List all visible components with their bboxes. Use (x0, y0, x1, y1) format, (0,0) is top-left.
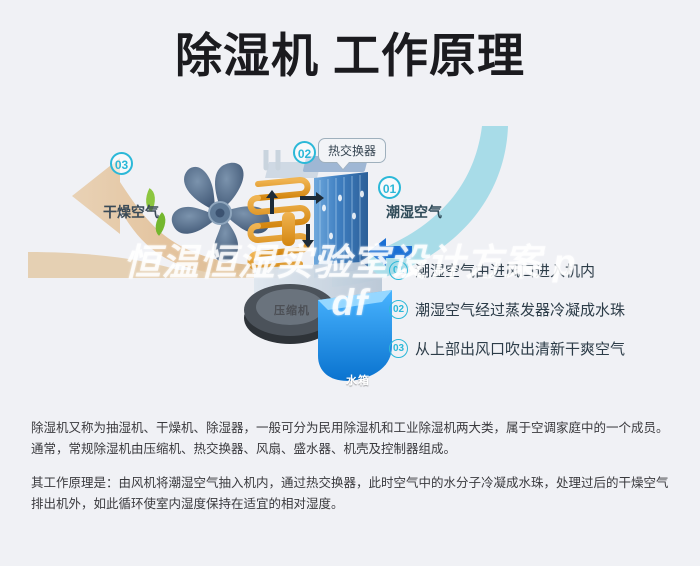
step-text: 潮湿空气由进风口进入机内 (415, 260, 595, 281)
dry-air-label: 干燥空气 (103, 202, 159, 222)
article-body: 除湿机又称为抽湿机、干燥机、除湿器，一般可分为民用除湿机和工业除湿机两大类，属于… (31, 418, 669, 528)
page-title: 除湿机工作原理 (0, 26, 700, 86)
process-step-list: 01 潮湿空气由进风口进入机内 02 潮湿空气经过蒸发器冷凝成水珠 03 从上部… (389, 255, 689, 372)
diagram-badge-03: 03 (110, 152, 133, 175)
diagram-badge-02: 02 (293, 141, 316, 164)
list-item: 02 潮湿空气经过蒸发器冷凝成水珠 (389, 294, 689, 324)
step-number-badge: 03 (389, 339, 408, 358)
title-segment-product: 除湿机 (175, 29, 319, 82)
list-item: 03 从上部出风口吹出清新干爽空气 (389, 333, 689, 363)
step-number-badge: 01 (389, 261, 408, 280)
paragraph-working-principle: 其工作原理是：由风机将潮湿空气抽入机内，通过热交换器，此时空气中的水分子冷凝成水… (31, 473, 669, 515)
step-text: 从上部出风口吹出清新干爽空气 (415, 338, 625, 359)
compressor-label: 压缩机 (274, 302, 310, 318)
water-tank-label: 水箱 (346, 372, 370, 388)
step-text: 潮湿空气经过蒸发器冷凝成水珠 (415, 299, 625, 320)
list-item: 01 潮湿空气由进风口进入机内 (389, 255, 689, 285)
humid-air-label: 潮湿空气 (386, 202, 442, 222)
diagram-badge-01: 01 (378, 176, 401, 199)
paragraph-definition: 除湿机又称为抽湿机、干燥机、除湿器，一般可分为民用除湿机和工业除湿机两大类，属于… (31, 418, 669, 460)
step-number-badge: 02 (389, 300, 408, 319)
title-segment-principle: 工作原理 (333, 29, 525, 82)
heat-exchanger-callout: 热交换器 (318, 138, 386, 163)
